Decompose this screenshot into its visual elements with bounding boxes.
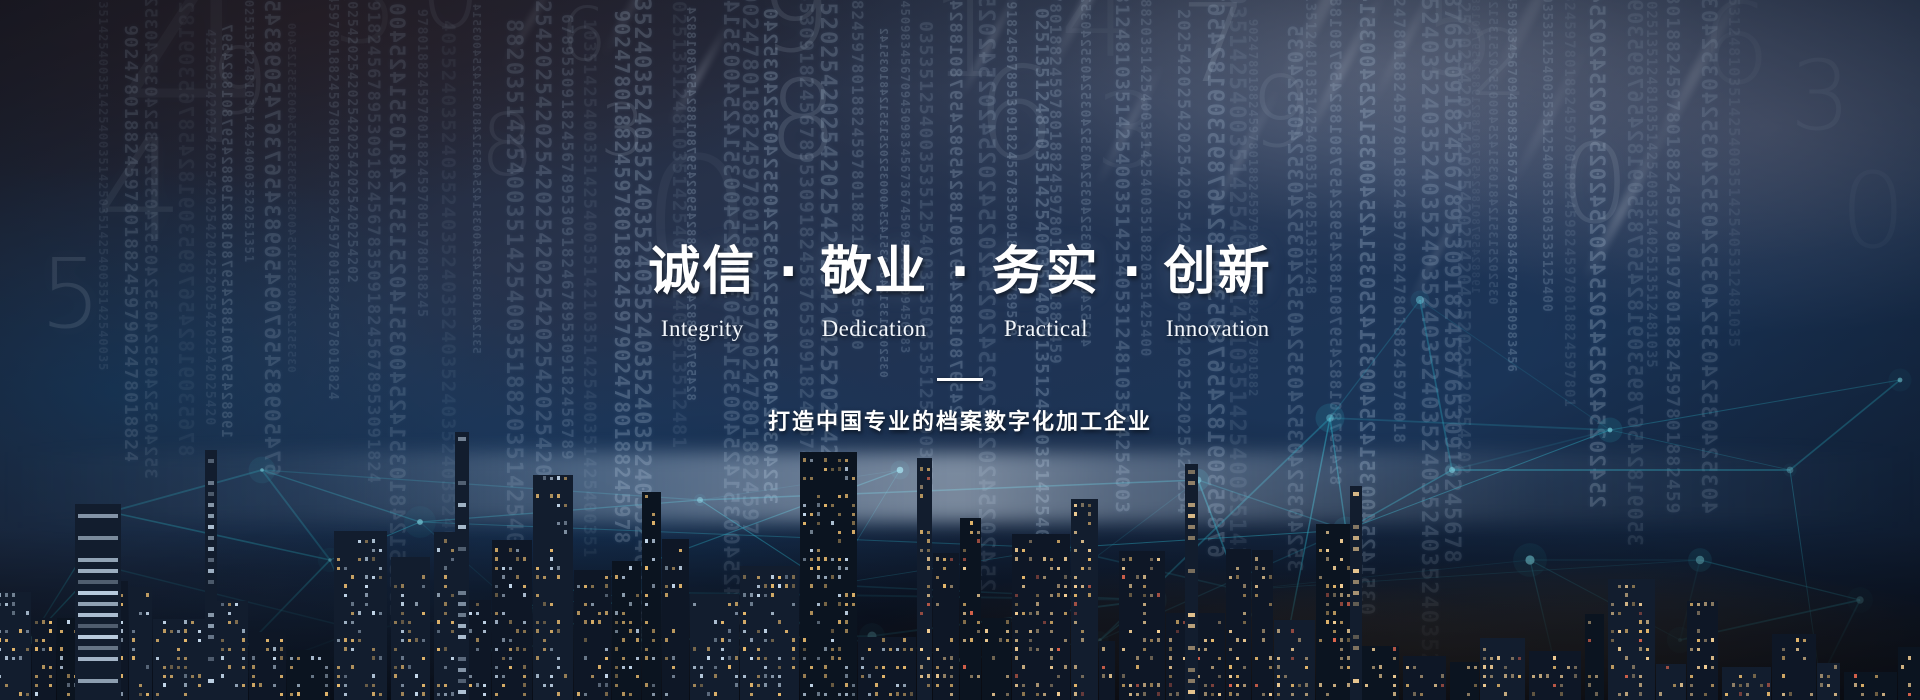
building-window — [652, 684, 655, 687]
building-window — [42, 648, 45, 651]
building-window — [1618, 630, 1621, 633]
building-window — [903, 684, 906, 687]
building-window — [838, 575, 841, 579]
building-window — [824, 647, 827, 651]
building-window — [645, 594, 648, 597]
hero-banner: 0351425400351425400351425035142540035142… — [0, 0, 1920, 700]
building-window — [936, 684, 939, 687]
building-window — [280, 693, 283, 696]
building-window — [1262, 693, 1265, 696]
building-window — [1532, 675, 1535, 678]
building-window — [502, 612, 505, 615]
building-window — [1236, 684, 1239, 687]
building-window — [1088, 567, 1091, 570]
building-window — [963, 567, 966, 570]
building-window — [273, 647, 276, 651]
building — [800, 452, 857, 700]
building-window — [831, 656, 834, 660]
building-window — [652, 513, 655, 516]
building-window — [408, 639, 411, 642]
building-window — [1057, 675, 1060, 678]
building-window — [882, 638, 885, 642]
building-window — [156, 639, 159, 642]
building-window — [838, 531, 841, 534]
building-window — [184, 629, 187, 633]
building-window — [1043, 557, 1046, 561]
building-window — [757, 630, 760, 633]
building-window — [564, 674, 567, 678]
building-window — [845, 629, 848, 633]
building-window — [1767, 692, 1770, 696]
building-window — [875, 692, 878, 696]
building-window — [817, 557, 820, 561]
building-window — [1625, 675, 1628, 678]
building-window — [12, 602, 15, 606]
divider-line — [937, 378, 983, 381]
building-window — [1319, 576, 1322, 579]
building-window — [629, 629, 632, 633]
building-window — [536, 594, 539, 597]
building-window — [927, 684, 930, 687]
building-window — [1291, 657, 1294, 660]
building-window — [1639, 683, 1642, 687]
building-window — [516, 549, 519, 552]
building-window — [12, 593, 15, 597]
building-window — [721, 648, 724, 651]
building — [1099, 641, 1115, 700]
building-window — [636, 638, 639, 642]
building — [334, 531, 387, 700]
building-window — [379, 693, 382, 696]
building-window — [665, 566, 668, 570]
building-window — [35, 647, 38, 651]
building-window — [523, 693, 526, 696]
building-window — [1632, 602, 1635, 606]
building-window — [728, 603, 731, 606]
building-window — [963, 612, 966, 615]
building-window — [78, 624, 118, 628]
building-window — [344, 621, 347, 624]
building-window — [1122, 648, 1125, 651]
building-window — [1229, 675, 1232, 678]
building-window — [764, 629, 767, 633]
building-window — [1029, 639, 1032, 642]
building-window — [1518, 675, 1521, 678]
building — [1403, 656, 1446, 700]
building-window — [1136, 693, 1139, 696]
building-window — [707, 692, 710, 696]
building-window — [629, 693, 632, 696]
building-window — [927, 594, 930, 597]
building-window — [1188, 470, 1195, 474]
building-window — [12, 611, 15, 615]
building-window — [325, 684, 328, 687]
building-window — [1074, 684, 1077, 687]
building-window — [290, 666, 293, 669]
building-window — [1188, 514, 1195, 518]
building-window — [591, 585, 594, 588]
building-window — [1639, 692, 1642, 696]
building-window — [550, 648, 553, 651]
building-window — [831, 683, 834, 687]
building-window — [502, 675, 505, 678]
building — [1012, 534, 1070, 700]
building-window — [1697, 648, 1700, 651]
building-window — [817, 503, 820, 507]
building-window — [401, 620, 404, 624]
building-window — [838, 459, 841, 462]
building-window — [963, 639, 966, 642]
building-window — [1725, 693, 1728, 696]
building-window — [297, 684, 300, 687]
building-window — [372, 557, 375, 561]
building-window — [1467, 666, 1470, 669]
building-window — [1882, 693, 1885, 696]
building-window — [177, 666, 180, 669]
building-window — [5, 593, 8, 597]
building-window — [1625, 602, 1628, 606]
building-window — [221, 648, 224, 651]
building-window — [605, 674, 608, 678]
building-window — [652, 521, 655, 525]
building-window — [1413, 692, 1416, 696]
building-window — [1143, 575, 1146, 579]
building-window — [1229, 630, 1232, 633]
building-window — [35, 639, 38, 642]
building-window — [845, 693, 848, 696]
building-window — [1353, 547, 1359, 551]
building-window — [615, 674, 618, 678]
building-window — [67, 674, 70, 678]
building-window — [778, 620, 781, 624]
building-window — [838, 602, 841, 606]
building-window — [1298, 638, 1301, 642]
building-window — [242, 684, 245, 687]
building-window — [557, 566, 560, 570]
building-window — [523, 593, 526, 597]
building-window — [242, 648, 245, 651]
building-window — [622, 657, 625, 660]
building-window — [469, 675, 472, 678]
building-window — [1803, 639, 1806, 642]
building-window — [365, 540, 368, 543]
building-window — [1326, 593, 1329, 597]
building-window — [1036, 629, 1039, 633]
building-window — [757, 594, 760, 597]
building-window — [1150, 594, 1153, 597]
building-window — [803, 638, 806, 642]
building-window — [771, 675, 774, 678]
building — [690, 594, 739, 700]
building-window — [1680, 683, 1683, 687]
building-window — [191, 675, 194, 678]
building-window — [1081, 567, 1084, 570]
building-window — [882, 648, 885, 651]
building-window — [1188, 646, 1195, 650]
building-window — [1050, 594, 1053, 597]
building-window — [444, 666, 447, 669]
building-window — [163, 621, 166, 624]
building-window — [943, 657, 946, 660]
building-window — [977, 630, 980, 633]
building-window — [146, 665, 149, 669]
building-window — [721, 621, 724, 624]
building-window — [700, 684, 703, 687]
building-window — [584, 603, 587, 606]
building-window — [1169, 683, 1172, 687]
building-window — [903, 693, 906, 696]
building-window — [280, 639, 283, 642]
building-window — [365, 575, 368, 579]
building-window — [444, 612, 447, 615]
building-window — [622, 692, 625, 696]
building-window — [1333, 638, 1336, 642]
building — [1898, 647, 1920, 700]
value-group-innovation: 创新Innovation — [1164, 242, 1272, 343]
building-window — [817, 657, 820, 660]
building-window — [622, 638, 625, 642]
building-window — [845, 674, 848, 678]
building-window — [132, 648, 135, 651]
building-window — [372, 648, 375, 651]
building-window — [1036, 611, 1039, 615]
building-window — [757, 576, 760, 579]
building-window — [415, 692, 418, 696]
building-window — [5, 684, 8, 687]
building-window — [451, 692, 454, 696]
building-window — [1064, 594, 1067, 597]
building-window — [458, 602, 466, 606]
building — [1656, 664, 1686, 700]
building-window — [1326, 584, 1329, 588]
building-window — [351, 621, 354, 624]
building-window — [1036, 693, 1039, 696]
building-window — [778, 584, 781, 588]
building-window — [735, 683, 738, 687]
building-window — [1211, 639, 1214, 642]
building-window — [838, 513, 841, 516]
building-window — [920, 665, 923, 669]
building-window — [714, 666, 717, 669]
building-window — [852, 693, 855, 696]
building-window — [1043, 576, 1046, 579]
building-window — [1218, 675, 1221, 678]
building-window — [325, 666, 328, 669]
building-window — [156, 693, 159, 696]
building-window — [1188, 613, 1195, 617]
building-window — [792, 647, 795, 651]
building-window — [78, 602, 118, 606]
building-window — [458, 635, 466, 639]
building-window — [1269, 693, 1272, 696]
value-label-cn: 创新 — [1164, 242, 1272, 302]
building-window — [1483, 648, 1486, 651]
value-group-integrity: 诚信Integrity — [648, 242, 756, 343]
building-window — [252, 675, 255, 678]
building-window — [516, 629, 519, 633]
building-window — [1393, 692, 1396, 696]
building-window — [1291, 648, 1294, 651]
building-window — [1176, 620, 1179, 624]
building-window — [1143, 603, 1146, 606]
building-window — [437, 548, 440, 552]
building — [917, 458, 932, 700]
building-window — [1029, 630, 1032, 633]
banner-tagline: 打造中国专业的档案数字化加工企业 — [768, 408, 1152, 438]
building-window — [1015, 674, 1018, 678]
building-window — [615, 621, 618, 624]
building-window — [1625, 656, 1628, 660]
building-window — [139, 693, 142, 696]
building-window — [550, 603, 553, 606]
building-window — [896, 666, 899, 669]
building-window — [943, 558, 946, 561]
building-window — [1255, 594, 1258, 597]
building-window — [1022, 665, 1025, 669]
building-window — [1834, 693, 1837, 696]
building-window — [629, 666, 632, 669]
building-window — [1746, 693, 1749, 696]
building-window — [1595, 692, 1598, 696]
value-group-dedication: 敬业Dedication — [820, 242, 928, 343]
building-window — [943, 567, 946, 570]
building-window — [1088, 593, 1091, 597]
building-window — [598, 612, 601, 615]
building-window — [1646, 648, 1649, 651]
building-window — [920, 485, 923, 489]
building-window — [861, 657, 864, 660]
building-window — [700, 666, 703, 669]
building-window — [679, 584, 682, 588]
building-window — [1015, 630, 1018, 633]
building-window — [728, 665, 731, 669]
building-window — [622, 612, 625, 615]
building — [391, 557, 430, 700]
building-window — [1625, 593, 1628, 597]
building-window — [645, 648, 648, 651]
building-window — [920, 675, 923, 678]
building-window — [927, 603, 930, 606]
building-window — [1353, 492, 1359, 496]
building-window — [831, 575, 834, 579]
building-window — [645, 495, 648, 498]
building-window — [1690, 648, 1693, 651]
building-window — [903, 638, 906, 642]
building-window — [896, 648, 899, 651]
building-window — [1074, 512, 1077, 516]
building-window — [1854, 683, 1857, 687]
building-window — [778, 675, 781, 678]
building-window — [652, 629, 655, 633]
building-window — [1036, 602, 1039, 606]
building-window — [645, 656, 648, 660]
building-window — [1057, 593, 1060, 597]
building-window — [615, 575, 618, 579]
building-window — [824, 602, 827, 606]
building-window — [208, 657, 214, 661]
building-window — [1490, 665, 1493, 669]
building-window — [1211, 684, 1214, 687]
building-window — [1109, 674, 1112, 678]
building-window — [1129, 584, 1132, 588]
building-window — [1050, 666, 1053, 669]
building-window — [1753, 674, 1756, 678]
building-window — [1074, 504, 1077, 507]
building-window — [536, 656, 539, 660]
building-window — [550, 675, 553, 678]
building-window — [1406, 684, 1409, 687]
building-window — [1088, 549, 1091, 552]
building-window — [1129, 684, 1132, 687]
building-window — [845, 476, 848, 480]
building-window — [1143, 683, 1146, 687]
building-window — [1015, 647, 1018, 651]
building-window — [1218, 657, 1221, 660]
building-window — [1150, 656, 1153, 660]
building-window — [817, 603, 820, 606]
building-window — [1088, 512, 1091, 516]
building-window — [5, 630, 8, 633]
building-window — [1333, 585, 1336, 588]
building-window — [598, 665, 601, 669]
building-window — [1646, 620, 1649, 624]
building-window — [1269, 656, 1272, 660]
building-window — [273, 684, 276, 687]
building-window — [543, 684, 546, 687]
building-window — [1340, 584, 1343, 588]
building-window — [817, 512, 820, 516]
building-window — [920, 530, 923, 534]
building-window — [1088, 522, 1091, 525]
building-window — [208, 525, 214, 529]
building-window — [803, 558, 806, 561]
building-window — [1291, 693, 1294, 696]
building-window — [622, 593, 625, 597]
building-window — [543, 648, 546, 651]
building-window — [803, 693, 806, 696]
building-window — [49, 684, 52, 687]
building-window — [1015, 639, 1018, 642]
building-window — [1157, 630, 1160, 633]
building-window — [1157, 558, 1160, 561]
building-window — [208, 580, 214, 584]
building-window — [1340, 666, 1343, 669]
building-window — [1504, 674, 1507, 678]
building-window — [1861, 693, 1864, 696]
building-window — [707, 656, 710, 660]
building-window — [672, 629, 675, 633]
building-window — [920, 612, 923, 615]
building-window — [191, 621, 194, 624]
building-window — [584, 693, 587, 696]
building-window — [458, 690, 466, 694]
building-window — [605, 576, 608, 579]
building-window — [1143, 638, 1146, 642]
building-window — [845, 593, 848, 597]
building-window — [743, 575, 746, 579]
building-window — [509, 666, 512, 669]
building-window — [750, 657, 753, 660]
building-window — [852, 521, 855, 525]
building-window — [1057, 692, 1060, 696]
building-window — [365, 603, 368, 606]
building-window — [132, 630, 135, 633]
building-window — [1333, 611, 1336, 615]
building-window — [985, 629, 988, 633]
building-window — [665, 593, 668, 597]
building-window — [1081, 585, 1084, 588]
building — [858, 637, 916, 700]
